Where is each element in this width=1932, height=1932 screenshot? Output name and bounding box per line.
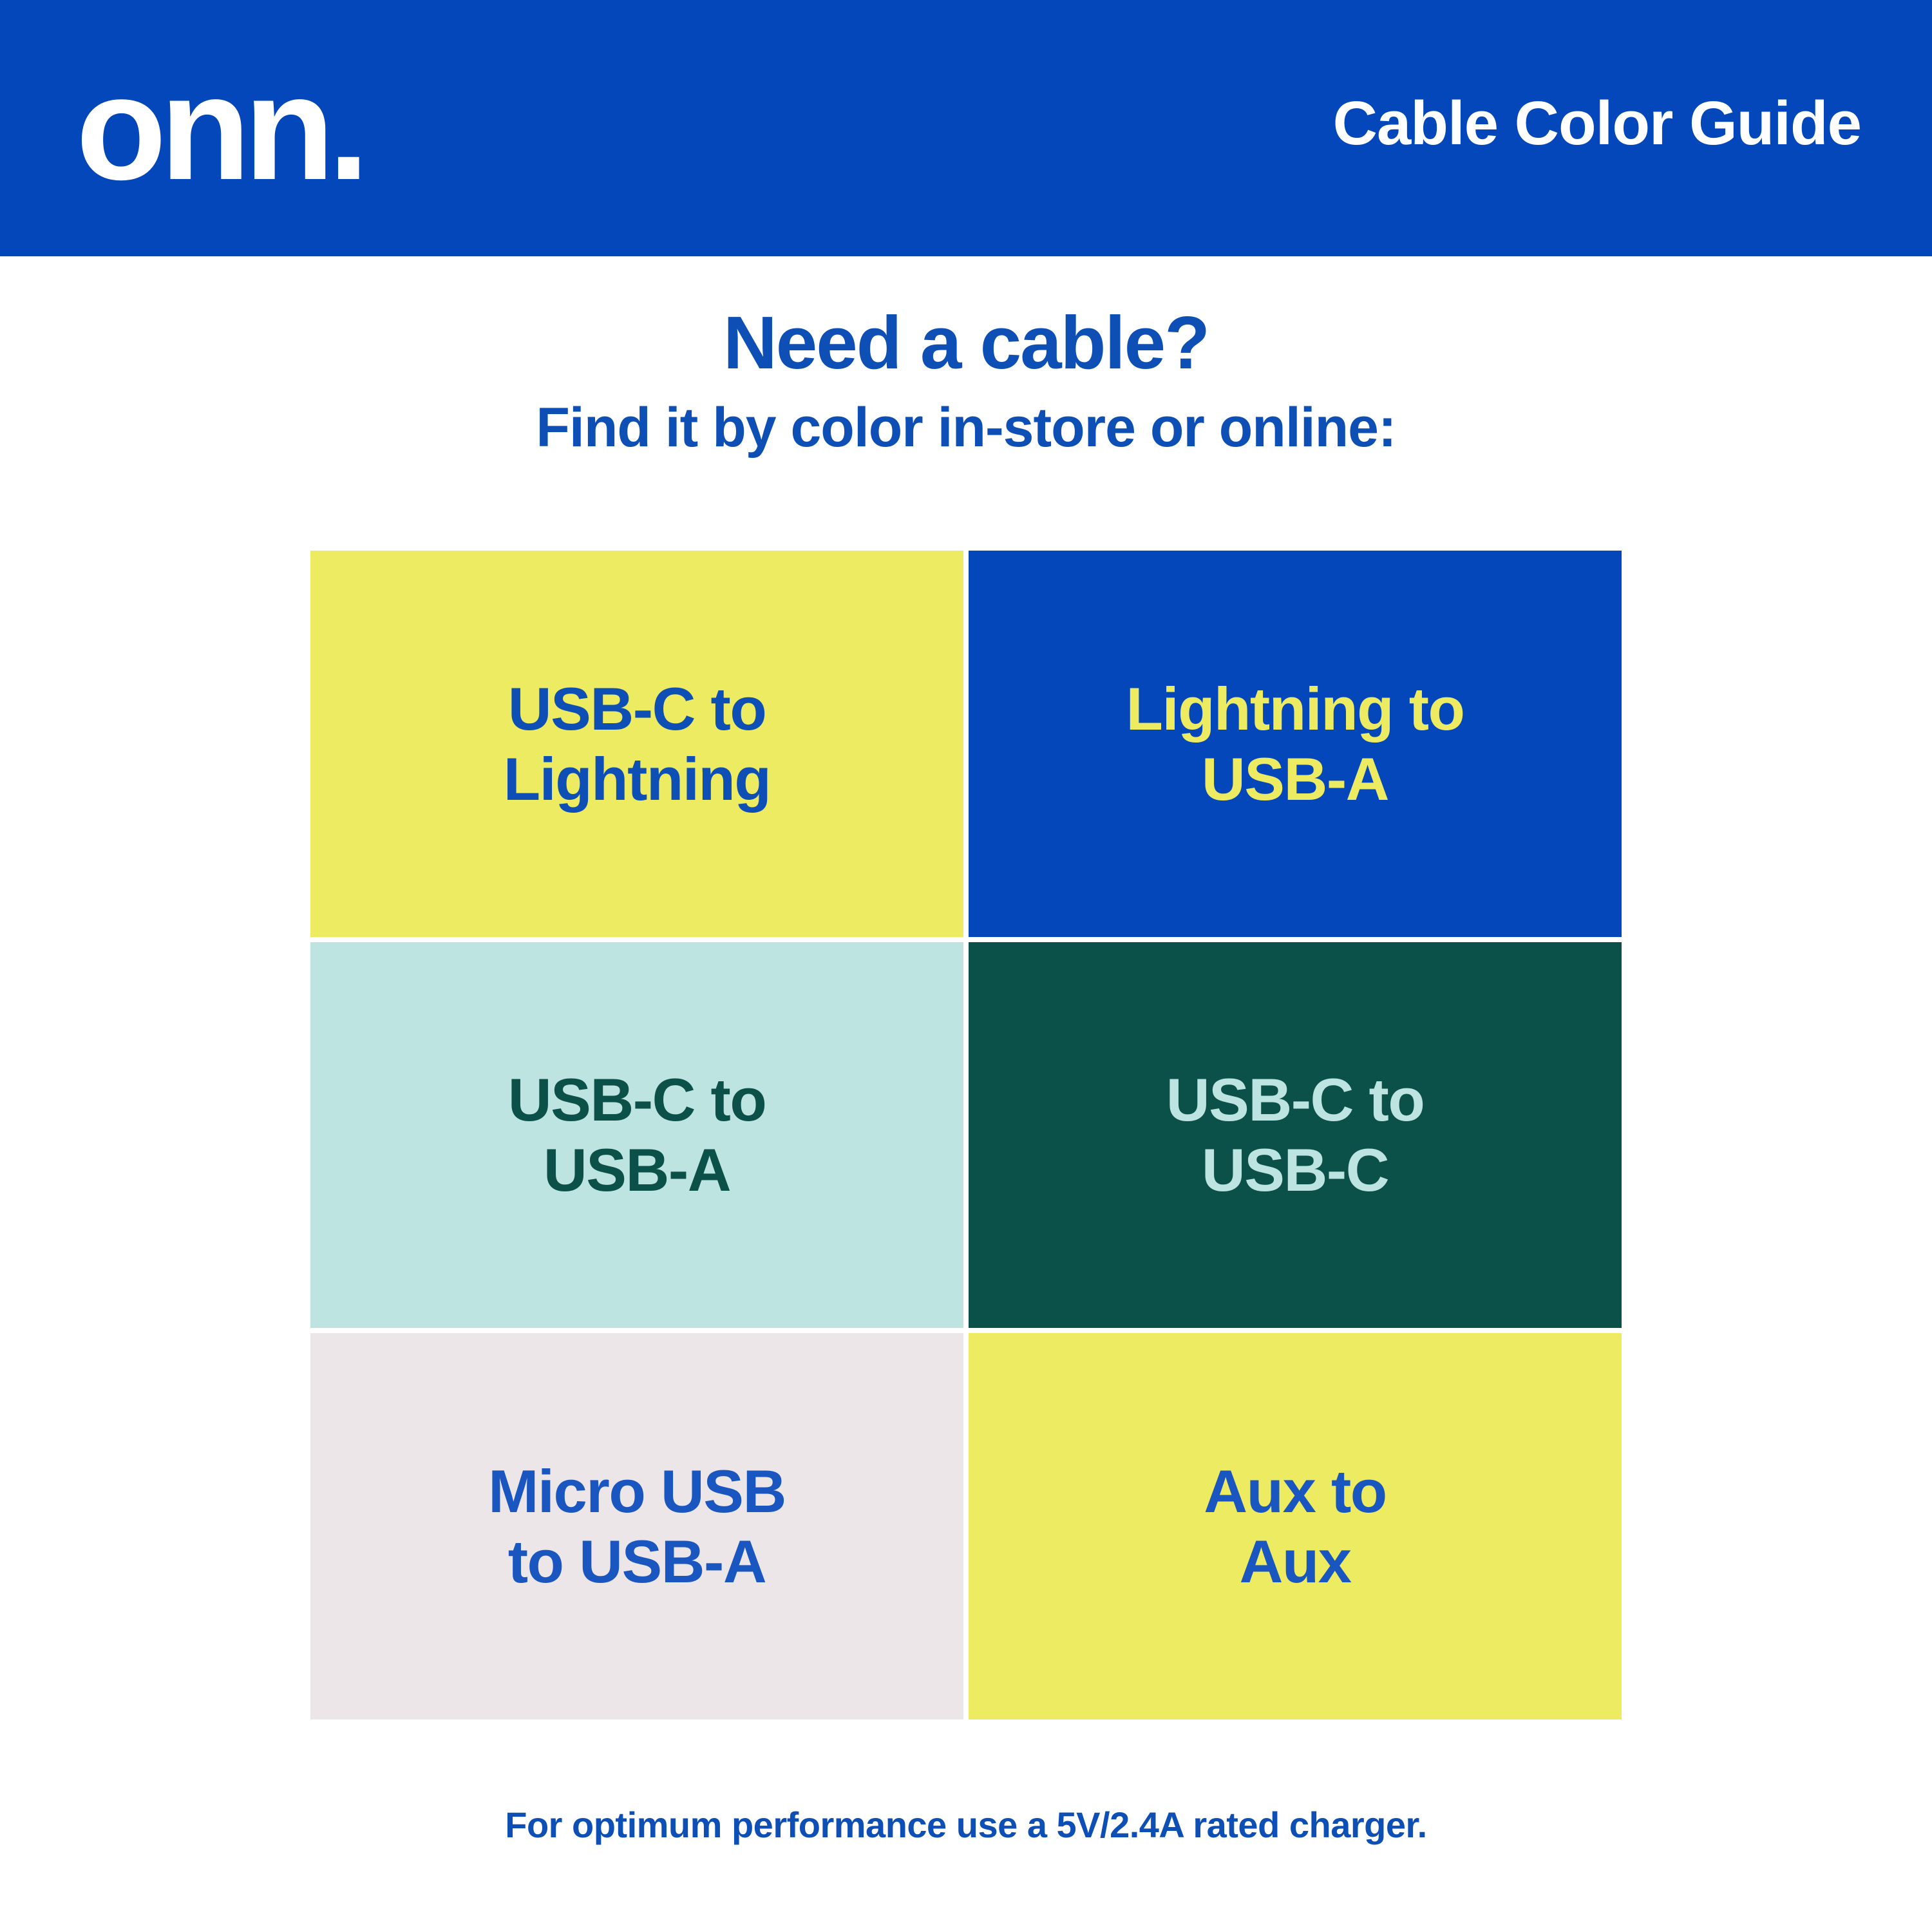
cable-color-grid: USB-C to Lightning Lightning to USB-A US… [310,551,1622,1719]
cable-cell-usbc-to-usbc[interactable]: USB-C to USB-C [969,942,1622,1329]
footer-note: For optimum performance use a 5V/2.4A ra… [0,1803,1932,1846]
header-title: Cable Color Guide [1333,93,1861,164]
cable-cell-label: Lightning to USB-A [1126,674,1464,814]
cable-cell-label: Aux to Aux [1204,1456,1386,1596]
onn-brand-logo: onn. [76,70,363,185]
cable-cell-label: Micro USB to USB-A [488,1456,786,1596]
cable-cell-aux-to-aux[interactable]: Aux to Aux [969,1333,1622,1719]
cable-cell-usbc-to-lightning[interactable]: USB-C to Lightning [310,551,963,937]
page-title: Need a cable? [0,303,1932,383]
cable-color-guide-page: onn. Cable Color Guide Need a cable? Fin… [0,0,1932,1932]
cable-cell-lightning-to-usba[interactable]: Lightning to USB-A [969,551,1622,937]
cable-cell-label: USB-C to Lightning [504,674,771,814]
page-subtitle: Find it by color in-store or online: [0,397,1932,459]
cable-cell-label: USB-C to USB-C [1166,1065,1425,1205]
cable-cell-label: USB-C to USB-A [508,1065,766,1205]
cable-cell-usbc-to-usba[interactable]: USB-C to USB-A [310,942,963,1329]
header-bar: onn. Cable Color Guide [0,0,1932,256]
cable-cell-microusb-to-usba[interactable]: Micro USB to USB-A [310,1333,963,1719]
hero-text-block: Need a cable? Find it by color in-store … [0,303,1932,459]
